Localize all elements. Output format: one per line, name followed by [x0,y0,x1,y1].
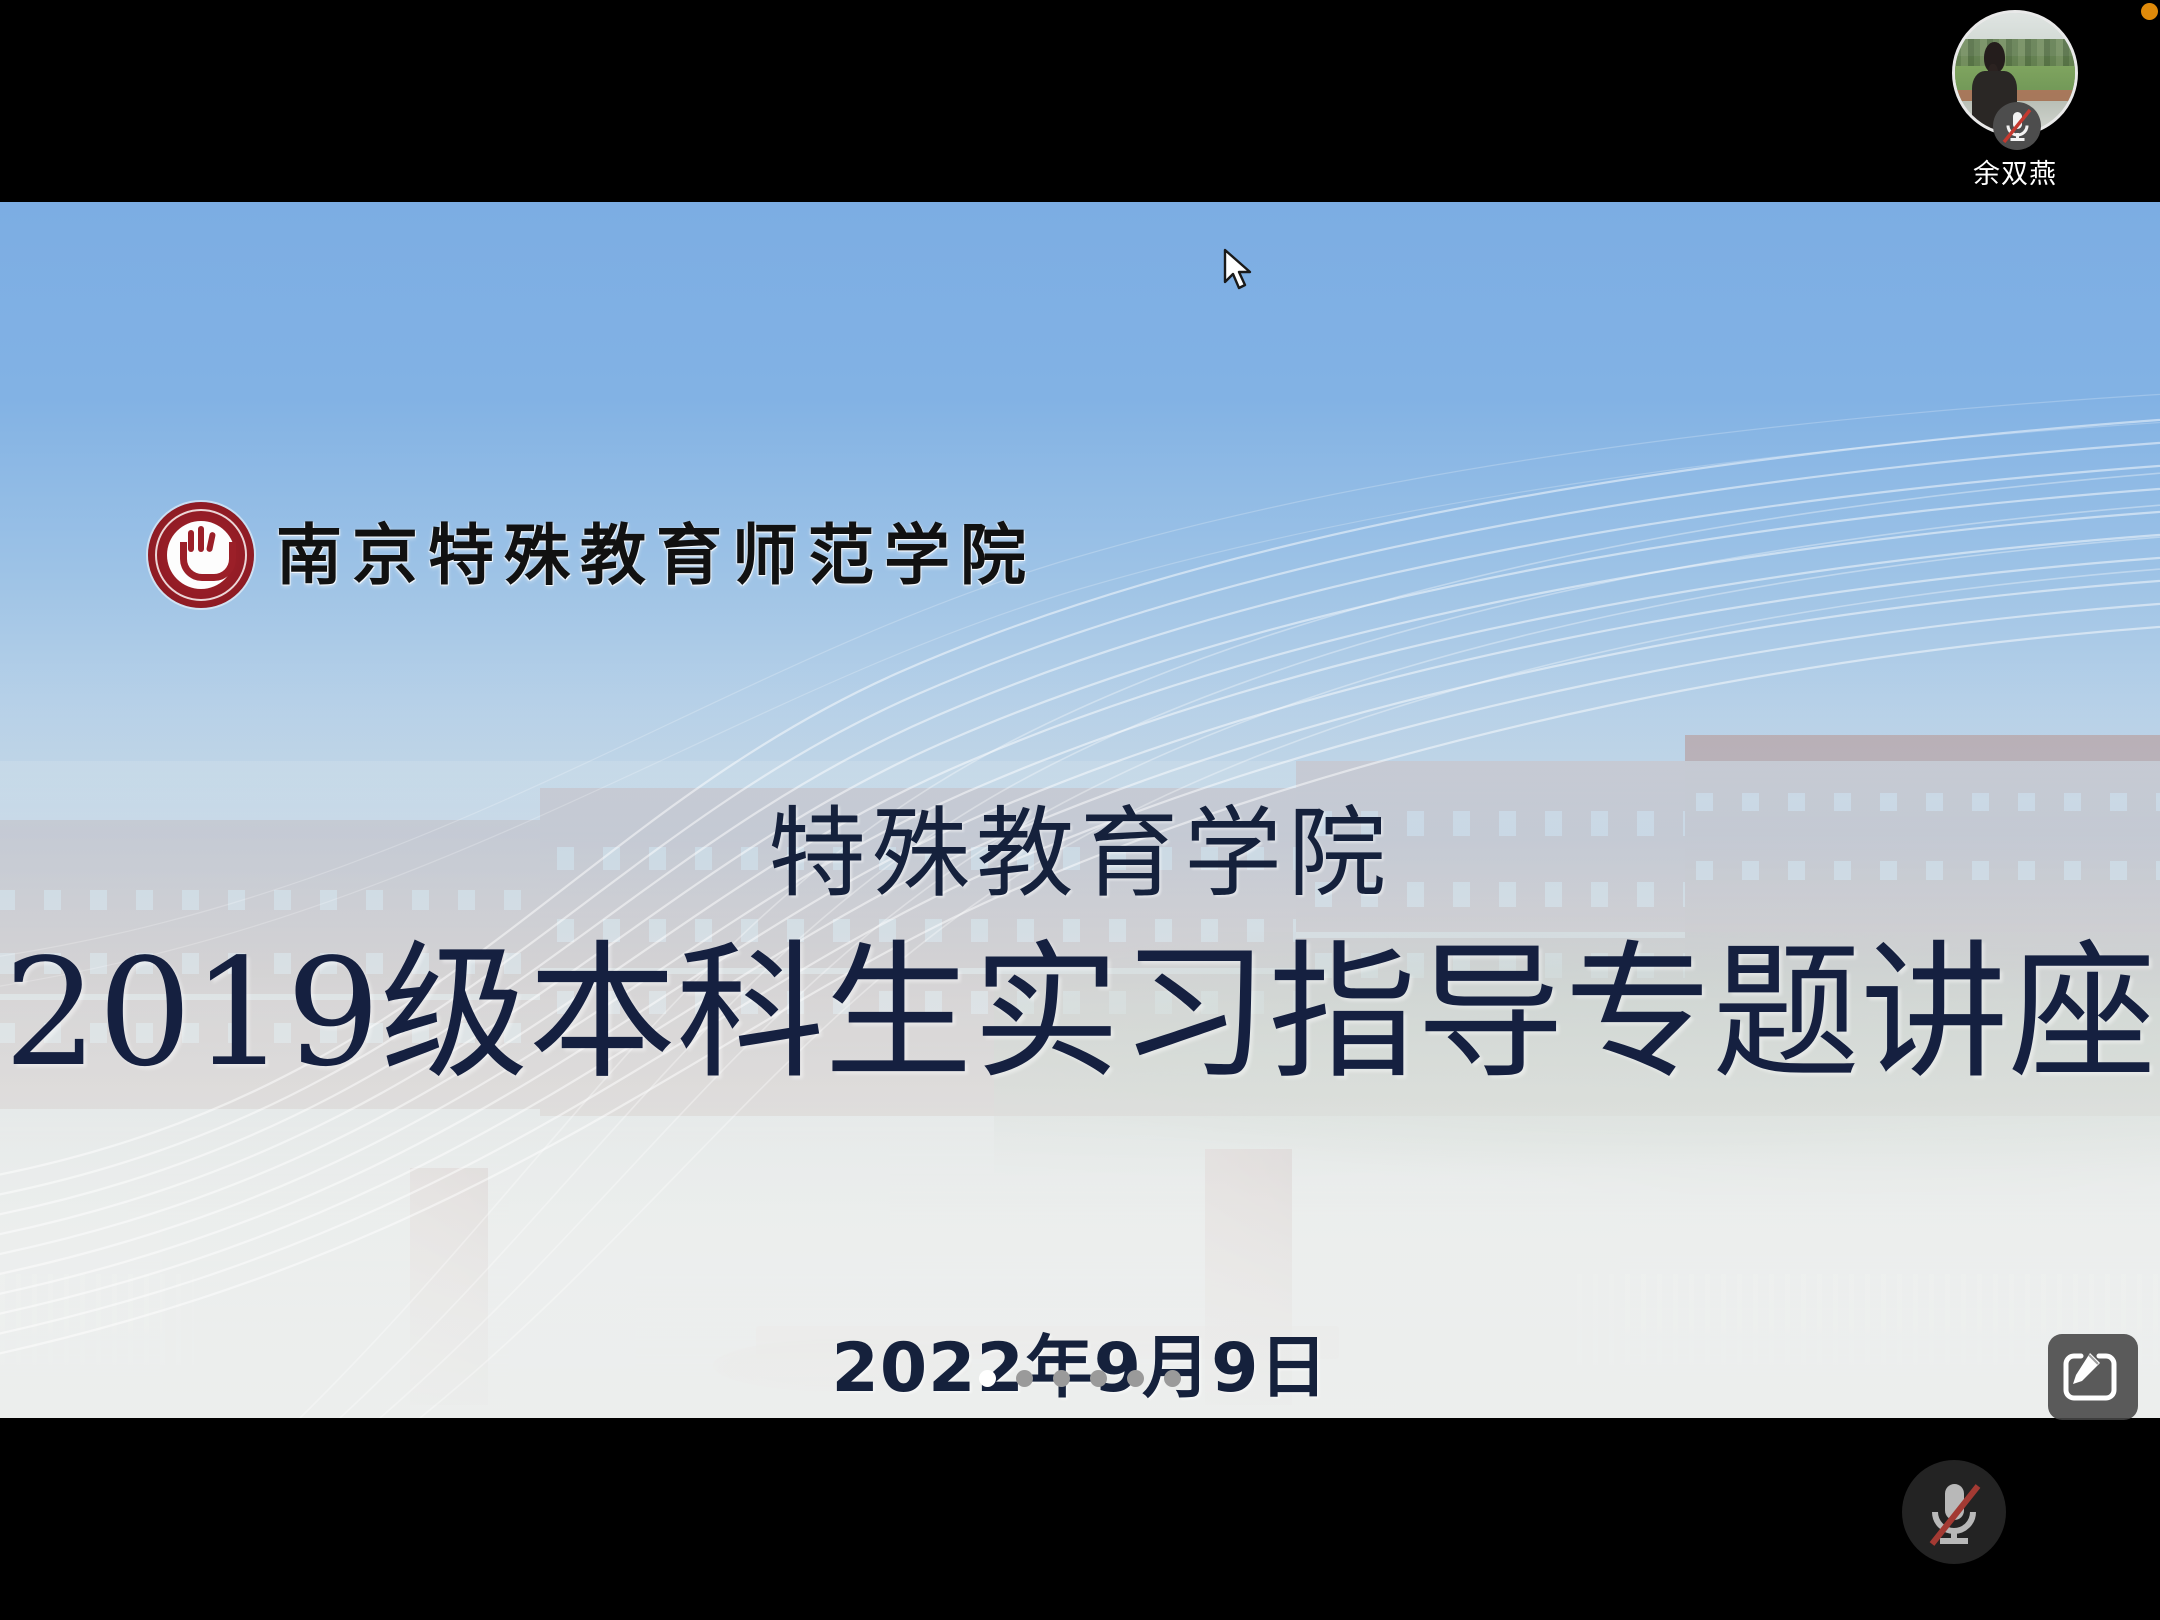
slide-pagination[interactable] [0,1370,2160,1387]
recording-status-dot [2141,3,2158,20]
pagination-dot[interactable] [1090,1370,1107,1387]
pagination-dot[interactable] [1016,1370,1033,1387]
slide-date: 2022年9月9日 [0,1312,2160,1411]
pagination-dot[interactable] [1127,1370,1144,1387]
university-seal-icon [148,502,254,608]
organization-name: 南京特殊教育师范学院 [276,522,1036,588]
mic-muted-icon [1902,1460,2006,1564]
pagination-dot[interactable] [1164,1370,1181,1387]
organization-logo: 南京特殊教育师范学院 [148,502,1036,608]
screen-share-viewer: 南京特殊教育师范学院 特殊教育学院 2019级本科生实习指导专题讲座 2022年… [0,0,2160,1620]
pagination-dot[interactable] [979,1370,996,1387]
slide-title: 2019级本科生实习指导专题讲座 [0,932,2160,1095]
annotate-button[interactable] [2048,1334,2138,1420]
pagination-dot[interactable] [1053,1370,1070,1387]
slide-subtitle: 特殊教育学院 [0,798,2160,911]
microphone-button[interactable] [1902,1460,2006,1564]
shared-slide[interactable]: 南京特殊教育师范学院 特殊教育学院 2019级本科生实习指导专题讲座 2022年… [0,202,2160,1418]
participant-name: 余双燕 [1900,152,2130,191]
participant-tile[interactable]: 余双燕 [1900,0,2130,210]
avatar [1952,10,2078,136]
mic-muted-icon [1993,102,2041,150]
